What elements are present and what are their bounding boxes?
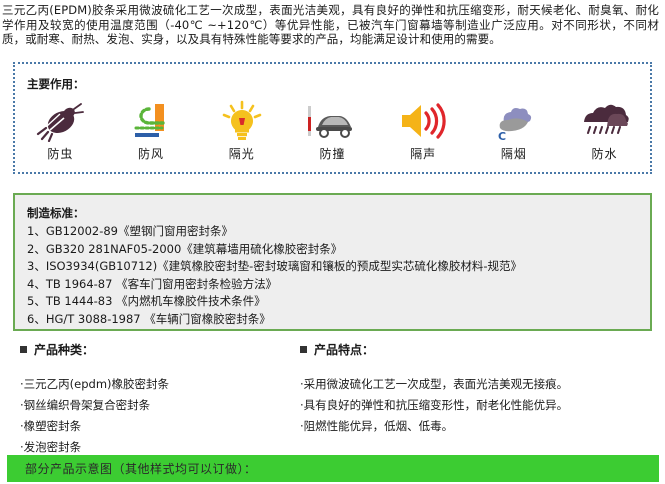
main-functions-box: 主要作用： 防虫 — [13, 62, 652, 174]
standard-line: 6、HG/T 3088-1987 《车辆门窗橡胶密封条》 — [27, 311, 650, 329]
insect-icon — [29, 100, 91, 142]
product-feature-item: ·具有良好的弹性和抗压缩变形性，耐老化性能优异。 — [300, 395, 660, 416]
product-type-item: ·钢丝编织骨架复合密封条 — [20, 395, 320, 416]
intro-paragraph: 三元乙丙(EPDM)胶条采用微波硫化工艺一次成型，表面光洁美观，具有良好的弹性和… — [0, 0, 661, 47]
function-item-wind[interactable]: 防风 — [111, 100, 191, 162]
product-section: 产品种类： ·三元乙丙(epdm)橡胶密封条 ·钢丝编织骨架复合密封条 ·橡塑密… — [0, 341, 665, 447]
function-item-sound[interactable]: 隔声 — [383, 100, 463, 162]
function-label: 防撞 — [292, 145, 372, 162]
standard-line: 4、TB 1964-87 《客车门窗用密封条检验方法》 — [27, 276, 650, 294]
water-icon — [574, 100, 636, 142]
wind-icon — [120, 100, 182, 142]
standard-line: 2、GB320 281NAF05-2000《建筑幕墙用硫化橡胶密封条》 — [27, 241, 650, 259]
product-type-item: ·橡塑密封条 — [20, 416, 320, 437]
bullet-square-icon — [20, 346, 27, 353]
product-types-heading: 产品种类： — [20, 341, 320, 358]
function-item-smoke[interactable]: C 隔烟 — [474, 100, 554, 162]
function-label: 防虫 — [20, 145, 100, 162]
standard-line: 3、ISO3934(GB10712)《建筑橡胶密封垫-密封玻璃窗和镶板的预成型实… — [27, 258, 650, 276]
function-label: 防水 — [565, 145, 645, 162]
standard-line: 1、GB12002-89《塑钢门窗用密封条》 — [27, 223, 650, 241]
product-feature-item: ·阻燃性能优异，低烟、低毒。 — [300, 416, 660, 437]
light-icon — [211, 100, 273, 142]
product-types-column: 产品种类： ·三元乙丙(epdm)橡胶密封条 ·钢丝编织骨架复合密封条 ·橡塑密… — [20, 341, 320, 458]
standards-title: 制造标准： — [27, 205, 650, 221]
function-item-insect[interactable]: 防虫 — [20, 100, 100, 162]
product-types-heading-label: 产品种类： — [34, 341, 94, 358]
function-item-impact[interactable]: 防撞 — [292, 100, 372, 162]
product-diagram-banner-text: 部分产品示意图（其他样式均可以订做）： — [25, 460, 257, 477]
product-type-item: ·三元乙丙(epdm)橡胶密封条 — [20, 374, 320, 395]
function-label: 隔烟 — [474, 145, 554, 162]
product-features-column: 产品特点： ·采用微波硫化工艺一次成型，表面光洁美观无接痕。 ·具有良好的弹性和… — [300, 341, 660, 437]
function-item-water[interactable]: 防水 — [565, 100, 645, 162]
function-label: 隔声 — [383, 145, 463, 162]
manufacturing-standards-box: 制造标准： 1、GB12002-89《塑钢门窗用密封条》 2、GB320 281… — [13, 193, 652, 331]
smoke-icon: C — [483, 100, 545, 142]
function-label: 隔光 — [202, 145, 282, 162]
product-feature-item: ·采用微波硫化工艺一次成型，表面光洁美观无接痕。 — [300, 374, 660, 395]
impact-icon — [301, 100, 363, 142]
product-features-heading-label: 产品特点： — [314, 341, 374, 358]
function-item-light[interactable]: 隔光 — [202, 100, 282, 162]
svg-text:C: C — [498, 130, 506, 142]
main-functions-title: 主要作用： — [27, 76, 650, 92]
bullet-square-icon — [300, 346, 307, 353]
sound-icon — [392, 100, 454, 142]
function-icon-row: 防虫 防风 — [15, 100, 650, 162]
function-label: 防风 — [111, 145, 191, 162]
product-features-heading: 产品特点： — [300, 341, 660, 358]
standard-line: 5、TB 1444-83 《内燃机车橡胶件技术条件》 — [27, 293, 650, 311]
product-diagram-banner: 部分产品示意图（其他样式均可以订做）： — [7, 455, 659, 482]
